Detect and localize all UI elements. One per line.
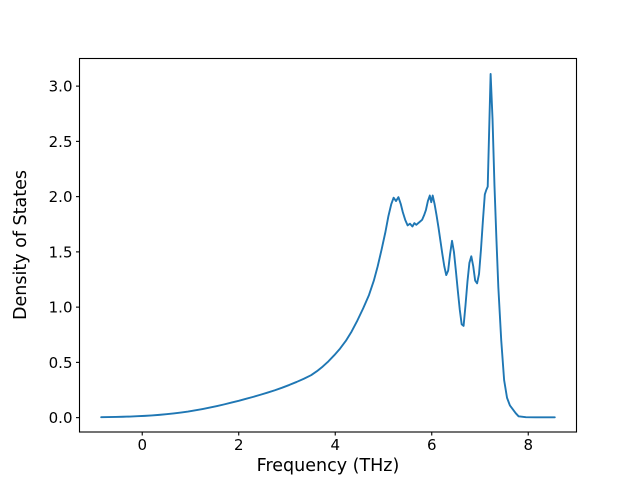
y-tick-label: 3.0 xyxy=(49,78,73,96)
y-tick-label: 0.0 xyxy=(49,409,73,427)
y-tick-label: 0.5 xyxy=(49,354,73,372)
phonon-dos-figure: 02468 0.00.51.01.52.02.53.0 Frequency (T… xyxy=(0,0,640,480)
y-tick-label: 2.5 xyxy=(49,133,73,151)
x-axis-label: Frequency (THz) xyxy=(257,456,400,476)
figure-background xyxy=(0,0,640,480)
y-axis-label: Density of States xyxy=(11,170,31,320)
y-tick-label: 1.0 xyxy=(49,299,73,317)
x-tick-label: 8 xyxy=(523,436,533,454)
x-tick-label: 6 xyxy=(427,436,437,454)
x-tick-label: 0 xyxy=(137,436,147,454)
x-tick-label: 4 xyxy=(330,436,340,454)
x-tick-label: 2 xyxy=(234,436,244,454)
y-tick-label: 2.0 xyxy=(49,188,73,206)
plot-canvas: 02468 0.00.51.01.52.02.53.0 Frequency (T… xyxy=(0,0,640,480)
y-tick-label: 1.5 xyxy=(49,243,73,261)
